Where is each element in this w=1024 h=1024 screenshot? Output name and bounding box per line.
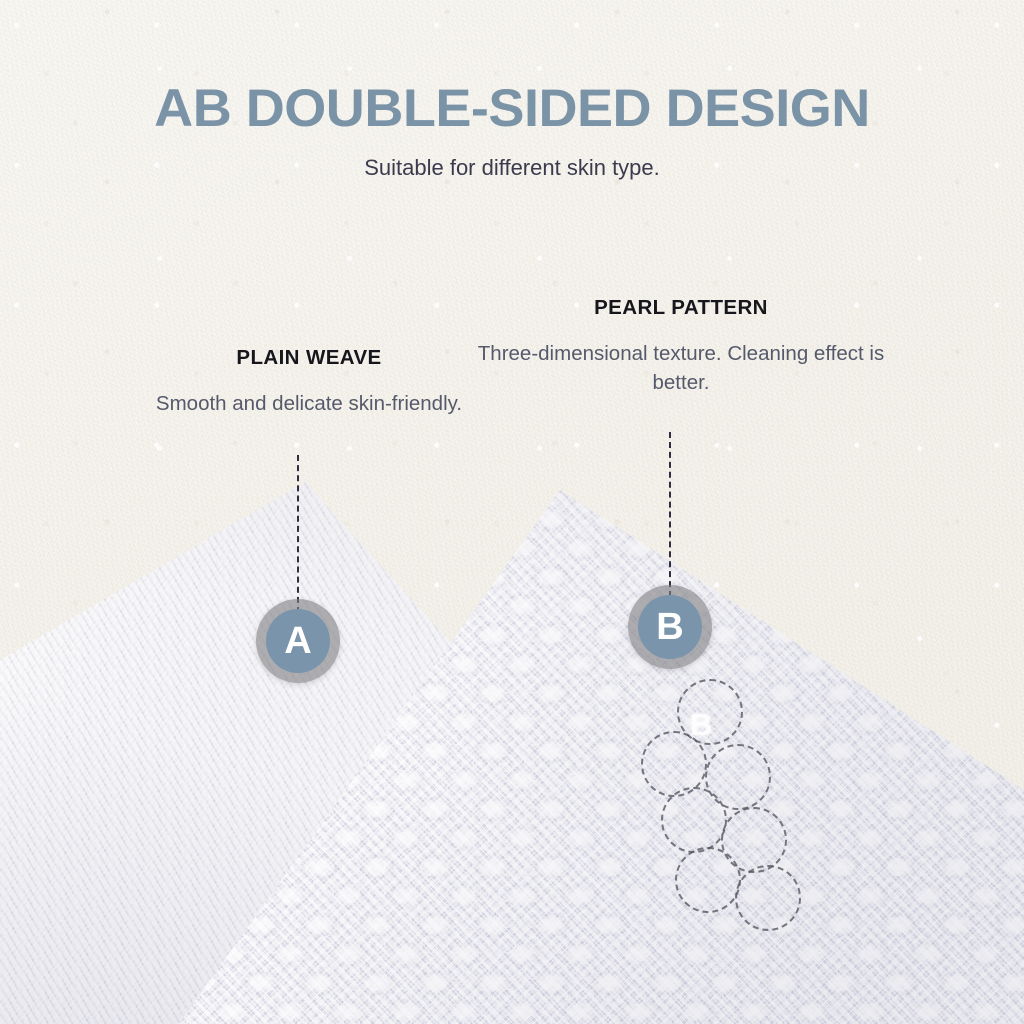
callout-pearl-pattern-title: PEARL PATTERN	[476, 298, 886, 319]
callout-plain-weave: PLAIN WEAVE Smooth and delicate skin-fri…	[104, 348, 514, 418]
leader-line-a	[297, 455, 299, 613]
leader-line-b	[669, 432, 671, 597]
callout-pearl-pattern: PEARL PATTERN Three-dimensional texture.…	[476, 298, 886, 398]
badge-a: A	[256, 599, 340, 683]
page-title: AB DOUBLE-SIDED DESIGN	[0, 82, 1024, 135]
pearl-highlight-circle	[661, 787, 727, 853]
page-subtitle: Suitable for different skin type.	[0, 157, 1024, 179]
pearl-highlight-circle	[675, 847, 741, 913]
badge-a-letter: A	[284, 622, 311, 660]
fabric-photo-layer	[0, 430, 1024, 1024]
infographic-canvas: AB DOUBLE-SIDED DESIGN Suitable for diff…	[0, 0, 1024, 1024]
badge-a-disc: A	[266, 609, 330, 673]
callout-plain-weave-description: Smooth and delicate skin-friendly.	[104, 389, 514, 419]
callout-plain-weave-title: PLAIN WEAVE	[104, 348, 514, 369]
pearl-highlight-circle	[735, 865, 801, 931]
badge-b-letter: B	[656, 608, 683, 646]
header: AB DOUBLE-SIDED DESIGN Suitable for diff…	[0, 82, 1024, 179]
badge-b-disc: B	[638, 595, 702, 659]
callout-pearl-pattern-description: Three-dimensional texture. Cleaning effe…	[476, 339, 886, 398]
badge-b: B	[628, 585, 712, 669]
brand-watermark: B	[690, 708, 720, 742]
